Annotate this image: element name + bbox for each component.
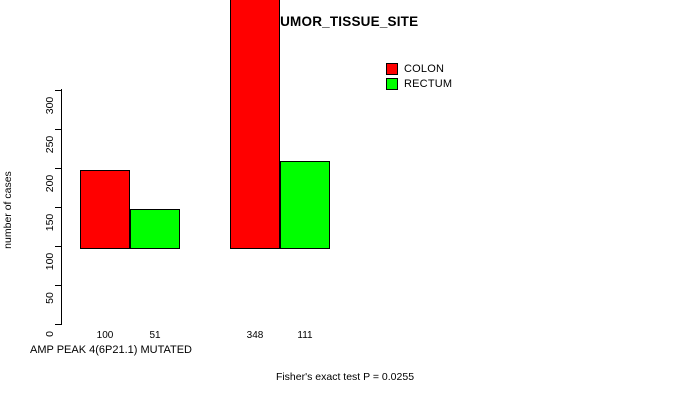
y-tick-label-0: 0 xyxy=(44,324,56,344)
legend-swatch-rectum-icon xyxy=(386,78,398,90)
x-axis-group-label: AMP PEAK 4(6P21.1) MUTATED xyxy=(30,344,192,356)
legend-item-rectum[interactable]: RECTUM xyxy=(386,76,452,91)
bar-group2-colon[interactable] xyxy=(230,0,280,249)
bar-value-label-group2-rectum: 111 xyxy=(280,330,330,341)
statistical-test-annotation: Fisher's exact test P = 0.0255 xyxy=(0,371,690,383)
chart-canvas: TUMOR_TISSUE_SITE number of cases 0 50 1… xyxy=(0,0,690,400)
bar-group1-colon[interactable] xyxy=(80,170,130,249)
legend-swatch-colon-icon xyxy=(386,63,398,75)
bar-value-label-group1-colon: 100 xyxy=(80,330,130,341)
bar-group1-rectum[interactable] xyxy=(130,209,180,249)
bar-group2-rectum[interactable] xyxy=(280,161,330,249)
legend-label-rectum: RECTUM xyxy=(404,78,452,90)
legend-item-colon[interactable]: COLON xyxy=(386,61,452,76)
bar-value-label-group2-colon: 348 xyxy=(230,330,280,341)
legend-label-colon: COLON xyxy=(404,63,444,75)
bar-value-label-group1-rectum: 51 xyxy=(130,330,180,341)
bars-plot-area xyxy=(0,0,690,325)
legend: COLON RECTUM xyxy=(386,61,452,91)
